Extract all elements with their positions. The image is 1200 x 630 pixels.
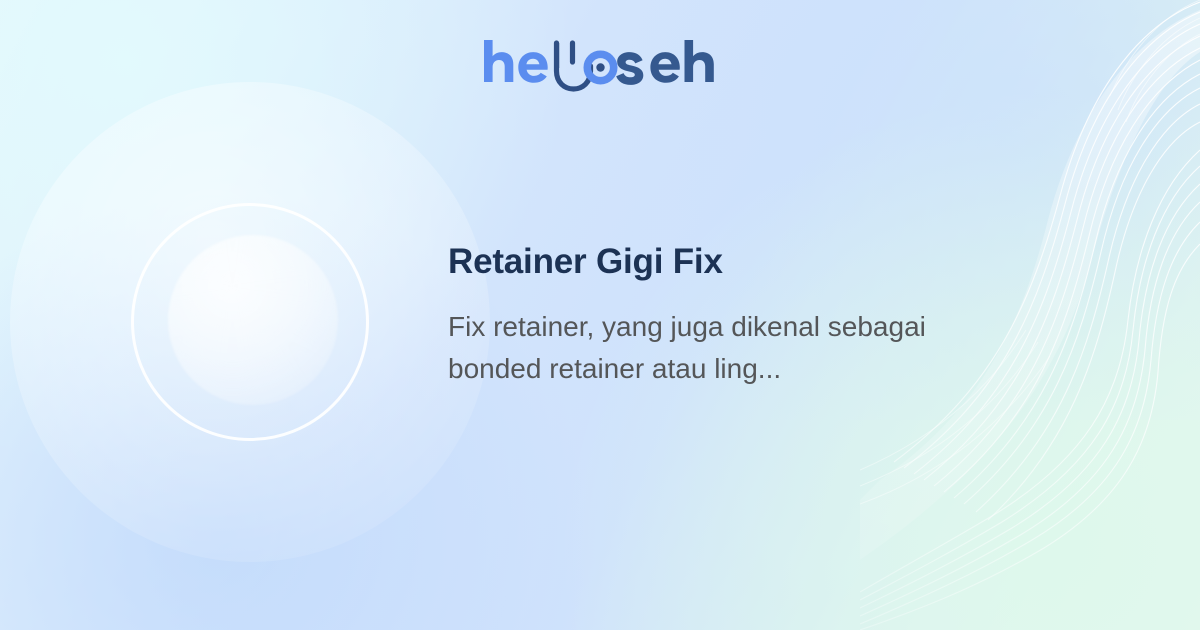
stethoscope-logo-icon — [480, 38, 720, 100]
hellosehat-logo[interactable] — [0, 38, 1200, 100]
inner-glow-circle-decoration — [168, 235, 338, 405]
page-description: Fix retainer, yang juga dikenal sebagai … — [448, 306, 1008, 390]
og-share-card: Retainer Gigi Fix Fix retainer, yang jug… — [0, 0, 1200, 630]
page-title: Retainer Gigi Fix — [448, 240, 1048, 284]
card-text-block: Retainer Gigi Fix Fix retainer, yang jug… — [448, 240, 1048, 390]
